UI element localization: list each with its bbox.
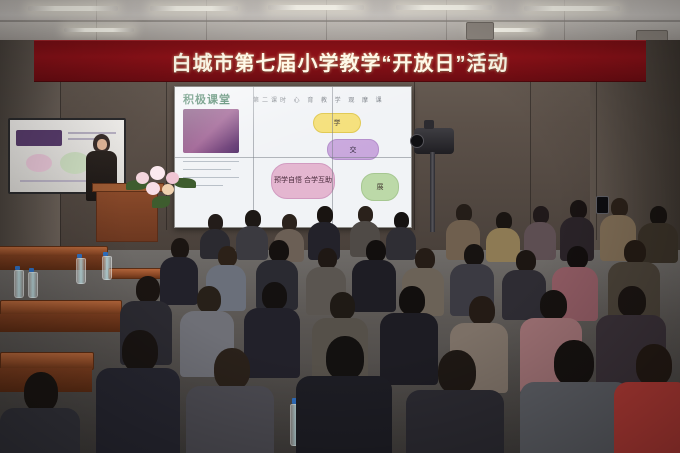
head xyxy=(415,248,435,270)
wall-speaker xyxy=(466,22,494,40)
head xyxy=(326,336,364,380)
ceiling-light xyxy=(64,28,134,32)
head xyxy=(136,276,160,303)
audience-member xyxy=(0,372,80,453)
body xyxy=(406,390,504,453)
banner-title: 白城市第七届小学教学“开放日”活动 xyxy=(172,47,509,76)
camera-lens-icon xyxy=(410,134,424,148)
presenter-face xyxy=(97,139,107,150)
head xyxy=(269,240,289,262)
smartphone xyxy=(596,196,609,214)
ceiling-light xyxy=(28,6,118,11)
flower xyxy=(150,166,165,180)
bottle-cap xyxy=(77,254,82,258)
flower xyxy=(166,172,179,184)
monitor-blob xyxy=(26,154,52,172)
wall-seam xyxy=(596,80,597,240)
head xyxy=(438,350,476,394)
head xyxy=(262,282,287,310)
head xyxy=(24,372,58,412)
ceiling-light xyxy=(150,6,238,11)
slide-bubble: 展 xyxy=(361,173,399,201)
wall-seam xyxy=(414,80,415,230)
head xyxy=(567,246,588,269)
head xyxy=(469,296,495,325)
flower xyxy=(136,172,149,184)
slide-bubble: 学 xyxy=(313,113,361,133)
body xyxy=(296,376,392,453)
event-banner: 白城市第七届小学教学“开放日”活动 xyxy=(34,40,646,82)
head xyxy=(197,286,221,313)
ceiling-light xyxy=(524,6,620,11)
slide-rule xyxy=(183,161,239,162)
flower-arrangement xyxy=(126,166,196,208)
audience-member xyxy=(406,350,504,453)
head xyxy=(218,246,237,267)
head xyxy=(366,240,386,262)
audience-member xyxy=(520,340,626,453)
head xyxy=(624,240,646,264)
head xyxy=(540,290,567,320)
screen-seam xyxy=(175,157,411,158)
audience-member xyxy=(96,330,180,453)
slide-subtitle: 第二课时 心 育 教 学 观 摩 课 xyxy=(253,95,385,104)
slide-photo xyxy=(183,109,239,153)
flower xyxy=(146,182,160,195)
head xyxy=(636,344,672,386)
head xyxy=(516,250,536,272)
body xyxy=(186,386,274,453)
leaf xyxy=(152,196,170,208)
water-bottle xyxy=(102,256,112,280)
audience-member xyxy=(186,348,274,453)
head xyxy=(318,248,337,269)
camera-tripod xyxy=(430,152,435,232)
water-bottle xyxy=(14,270,24,298)
body xyxy=(0,408,80,453)
head xyxy=(554,340,594,386)
audience-member xyxy=(296,336,392,453)
head xyxy=(399,286,425,315)
head xyxy=(214,348,250,390)
photo-scene: 白城市第七届小学教学“开放日”活动 积极课堂 第二课时 心 育 教 学 观 摩 … xyxy=(0,0,680,453)
bottle-cap xyxy=(15,266,20,270)
body xyxy=(96,368,180,453)
bottle-cap xyxy=(29,268,34,272)
body xyxy=(614,382,680,453)
head xyxy=(171,238,189,259)
ceiling-light xyxy=(396,5,492,10)
slide-bubble: 预学自悟 合学互助 xyxy=(271,163,335,199)
head xyxy=(618,286,646,317)
slide-title: 积极课堂 xyxy=(183,91,231,107)
camera-microphone xyxy=(424,120,434,129)
ceiling-light xyxy=(268,5,364,10)
audience-member xyxy=(614,344,680,453)
head xyxy=(330,292,355,320)
head xyxy=(122,330,158,372)
bottle-cap xyxy=(103,252,108,256)
flower xyxy=(162,184,174,195)
water-bottle xyxy=(76,258,86,284)
monitor-header-bar xyxy=(16,130,62,146)
head xyxy=(464,244,484,266)
water-bottle xyxy=(28,272,38,298)
